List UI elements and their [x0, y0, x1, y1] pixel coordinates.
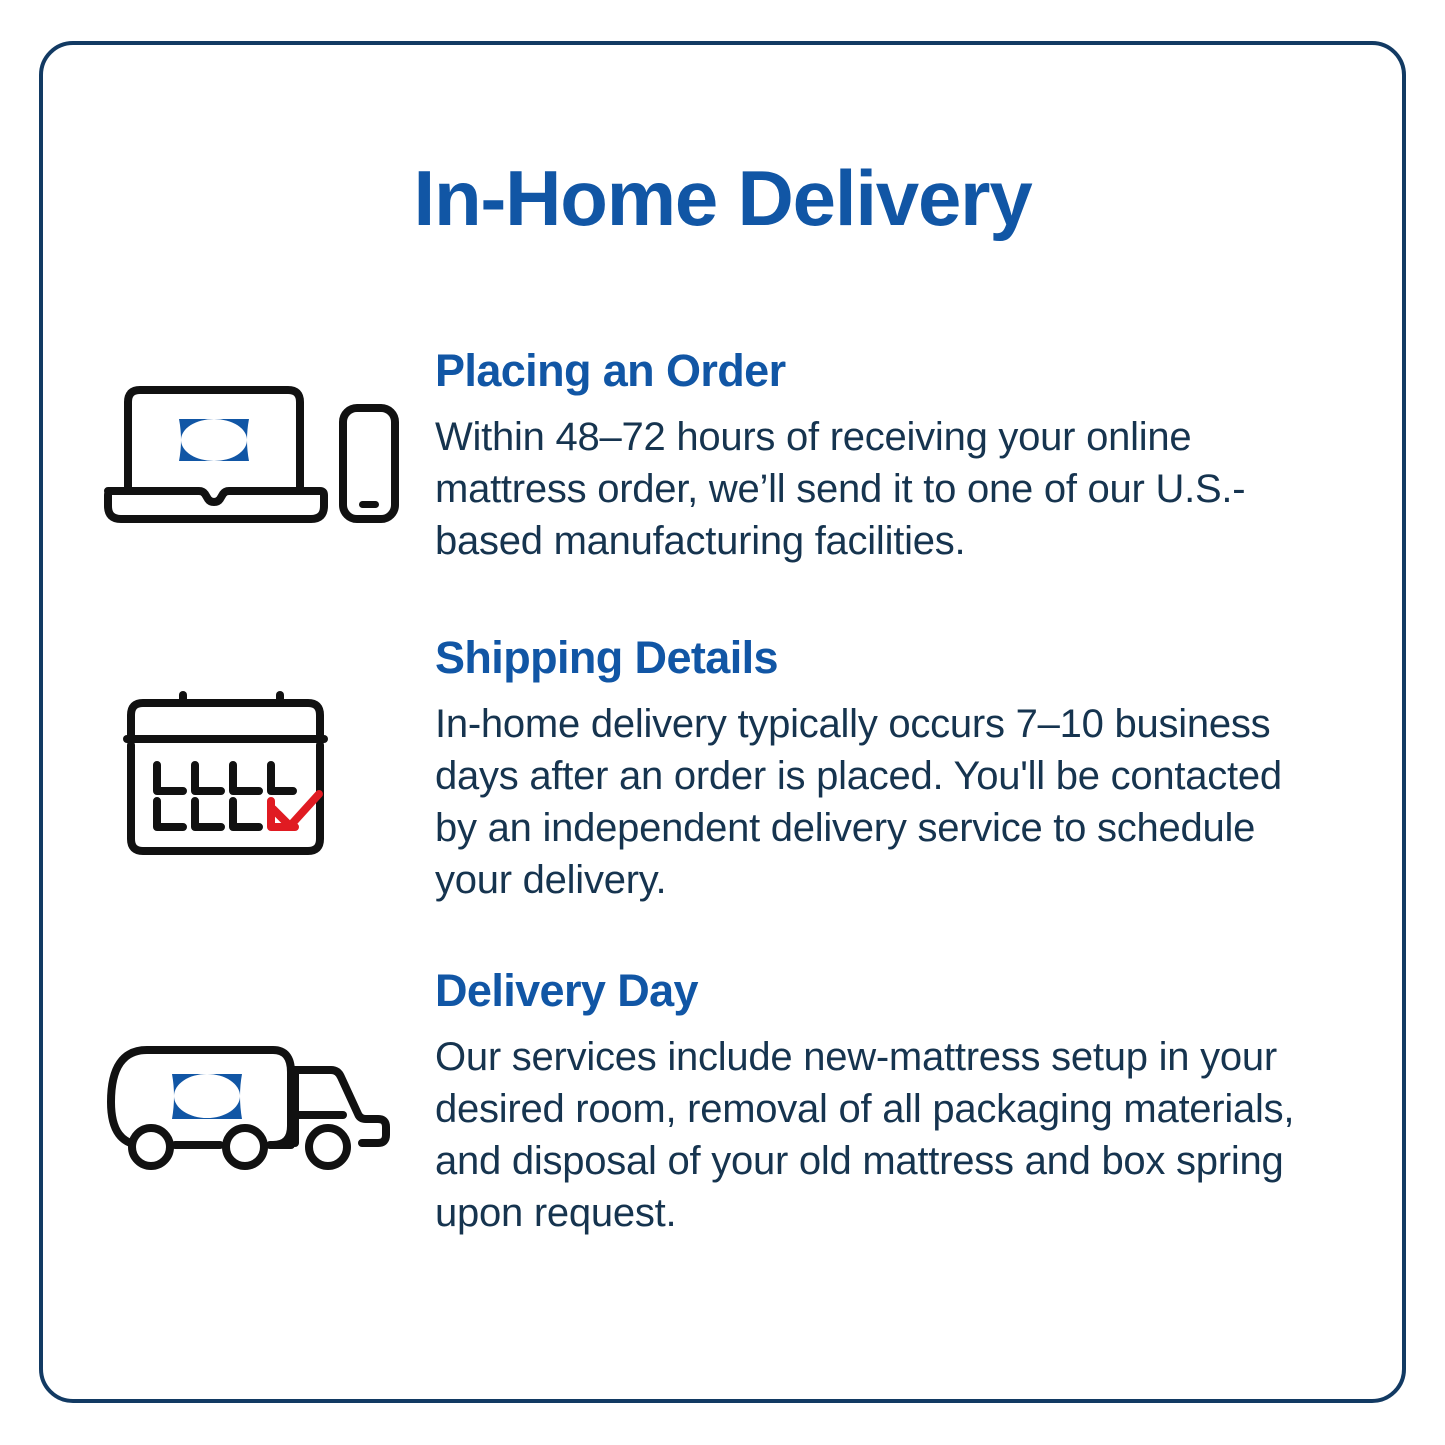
brand-bowtie-logo — [172, 1074, 242, 1119]
infographic-card: In-Home Delivery Placing an Order With — [0, 0, 1445, 1445]
section-body: Our services include new-mattress setup … — [435, 1031, 1325, 1239]
delivery-truck-icon — [95, 1030, 405, 1250]
page-title: In-Home Delivery — [0, 155, 1445, 241]
wheel — [226, 1128, 264, 1166]
laptop-and-phone-icon — [95, 380, 405, 600]
red-check-mark — [271, 794, 319, 827]
section-heading: Shipping Details — [435, 632, 1325, 684]
section-body: Within 48–72 hours of receiving your onl… — [435, 411, 1325, 567]
calendar-with-check-icon — [95, 687, 405, 907]
brand-bowtie-logo — [179, 419, 249, 461]
section-text: Shipping Details In-home delivery typica… — [435, 632, 1325, 906]
wheel — [309, 1128, 347, 1166]
section-heading: Placing an Order — [435, 345, 1325, 397]
section-body: In-home delivery typically occurs 7–10 b… — [435, 698, 1325, 906]
section-heading: Delivery Day — [435, 965, 1325, 1017]
section-text: Delivery Day Our services include new-ma… — [435, 965, 1325, 1239]
section-text: Placing an Order Within 48–72 hours of r… — [435, 345, 1325, 567]
wheel — [132, 1128, 170, 1166]
